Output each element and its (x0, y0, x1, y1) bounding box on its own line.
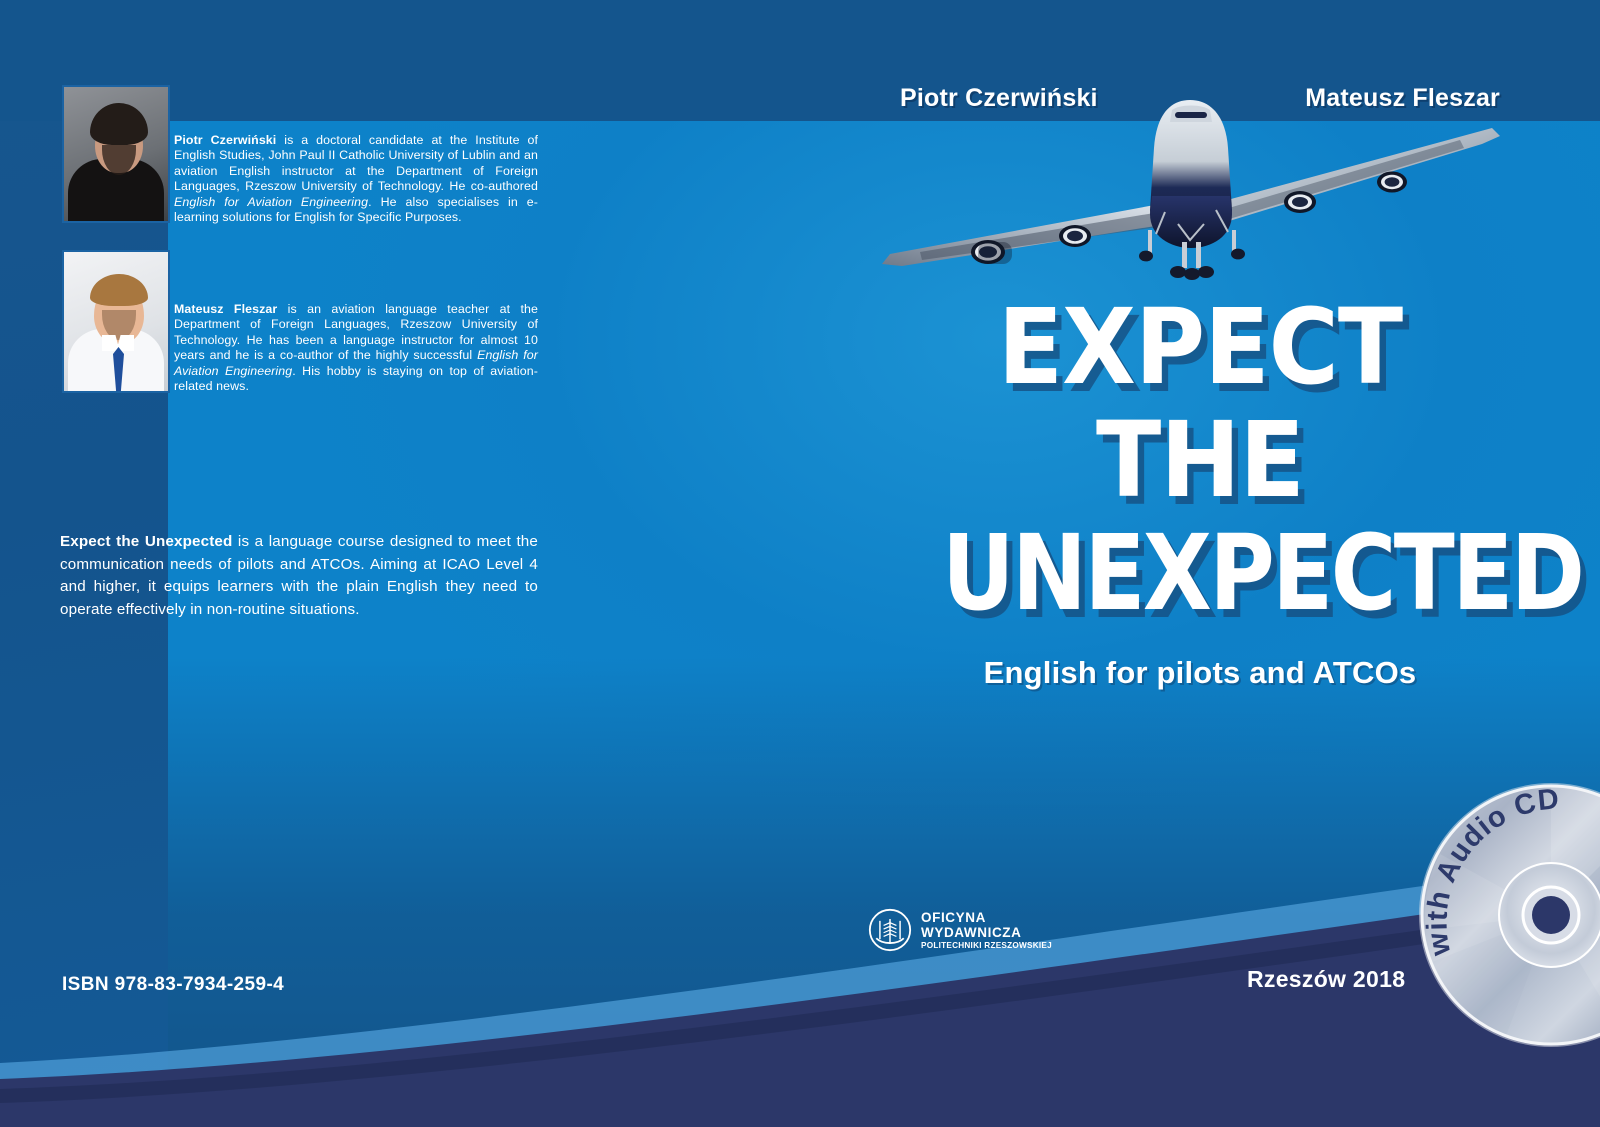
back-cover-blurb: Expect the Unexpected is a language cour… (60, 531, 538, 621)
airplane-photo (860, 84, 1520, 284)
author-photo-1 (62, 85, 170, 223)
blurb-title: Expect the Unexpected (60, 533, 232, 550)
title-line-1: EXPECT (924, 298, 1476, 397)
author-bio-1-name: Piotr Czerwiński (174, 133, 276, 147)
author-bio-2: Mateusz Fleszar is an aviation language … (174, 302, 538, 394)
author-bio-2-name: Mateusz Fleszar (174, 302, 277, 316)
book-subtitle: English for pilots and ATCOs (900, 655, 1500, 691)
title-line-2: THE (924, 411, 1476, 510)
author-photo-2 (62, 250, 170, 393)
publisher-logo: OFICYNA WYDAWNICZA POLITECHNIKI RZESZOWS… (868, 908, 1052, 952)
author-bio-1-italic: English for Aviation Engineering (174, 195, 368, 209)
place-and-year: Rzeszów 2018 (1247, 966, 1405, 993)
isbn: ISBN 978-83-7934-259-4 (62, 974, 284, 996)
publisher-line-3: POLITECHNIKI RZESZOWSKIEJ (921, 941, 1052, 950)
publisher-line-2: WYDAWNICZA (921, 925, 1052, 940)
book-title: EXPECT THE UNEXPECTED (900, 298, 1500, 622)
title-line-3: UNEXPECTED (942, 524, 1458, 623)
book-cover: Piotr Czerwiński Mateusz Fleszar EXPECT … (0, 0, 1600, 1127)
publisher-line-1: OFICYNA (921, 910, 1052, 925)
audio-cd-graphic: with Audio CD (1416, 780, 1600, 1050)
wheat-book-emblem-icon (868, 908, 912, 952)
author-bio-1: Piotr Czerwiński is a doctoral candidate… (174, 133, 538, 225)
